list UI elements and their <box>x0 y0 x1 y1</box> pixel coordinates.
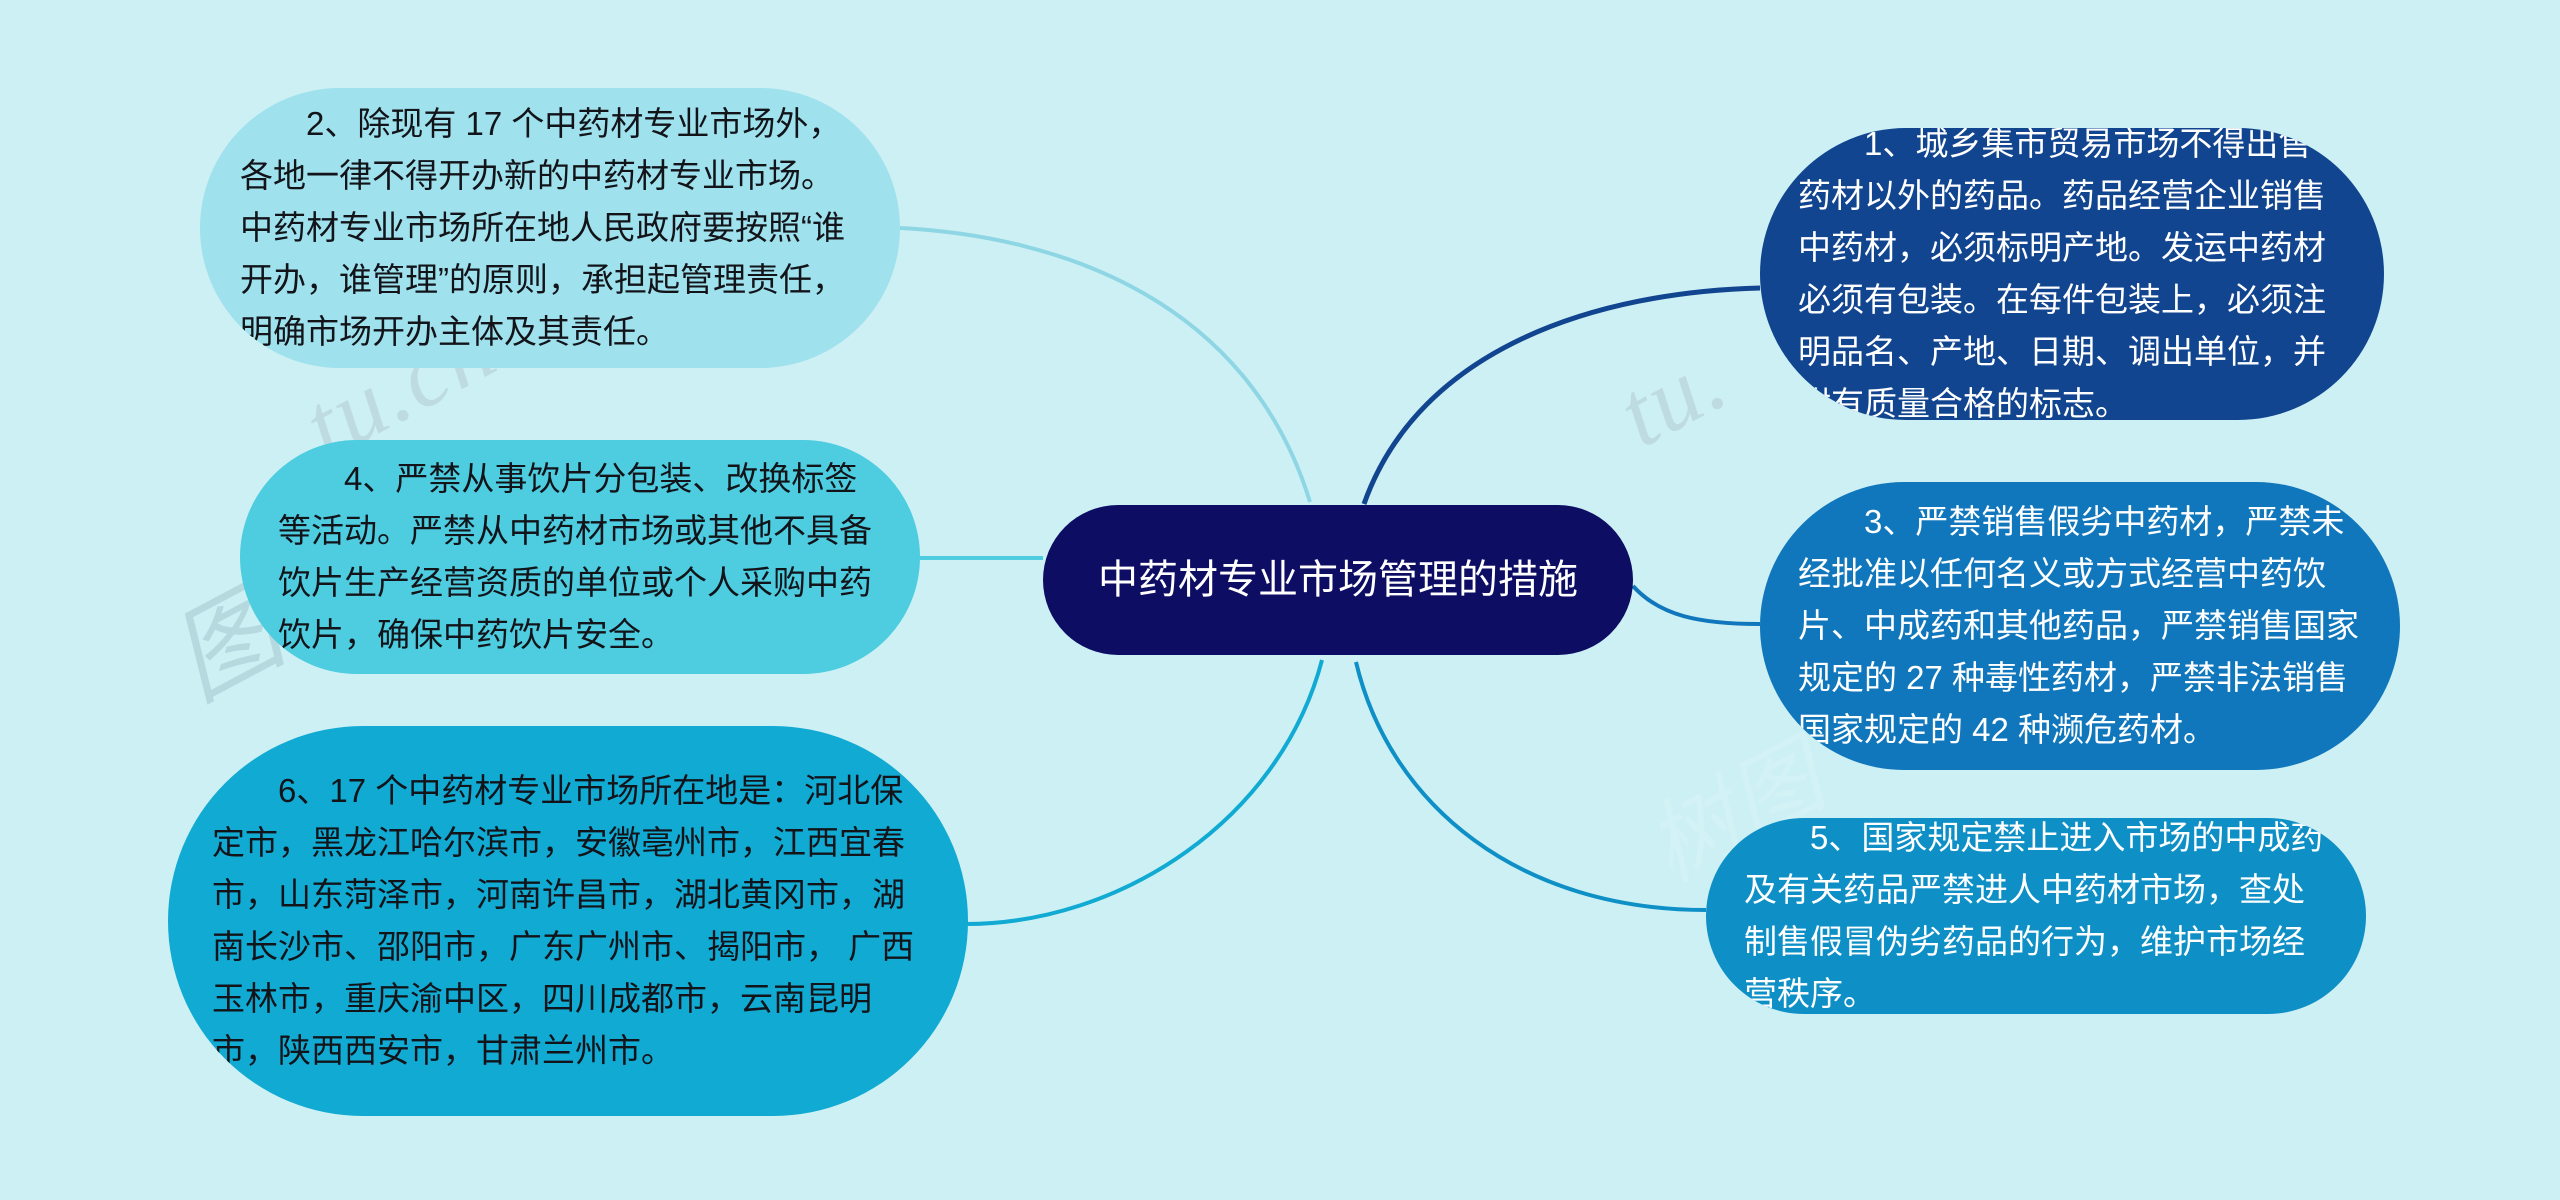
branch-node-6-text: 6、17 个中药材专业市场所在地是：河北保定市，黑龙江哈尔滨市，安徽亳州市，江西… <box>212 765 928 1078</box>
watermark-text: tu. <box>1600 322 1745 469</box>
central-topic-label: 中药材专业市场管理的措施 <box>1043 551 1633 609</box>
branch-node-1[interactable]: 1、城乡集市贸易市场不得出售中药材以外的药品。药品经营企业销售中药材，必须标明产… <box>1760 128 2384 420</box>
branch-node-3[interactable]: 3、严禁销售假劣中药材，严禁未经批准以任何名义或方式经营中药饮片、中成药和其他药… <box>1760 482 2400 770</box>
connector-node6 <box>966 660 1322 924</box>
branch-node-1-text: 1、城乡集市贸易市场不得出售中药材以外的药品。药品经营企业销售中药材，必须标明产… <box>1798 128 2350 420</box>
connector-node2 <box>900 228 1310 502</box>
branch-node-5-text: 5、国家规定禁止进入市场的中成药及有关药品严禁进人中药材市场，查处制售假冒伪劣药… <box>1744 818 2332 1014</box>
branch-node-5[interactable]: 5、国家规定禁止进入市场的中成药及有关药品严禁进人中药材市场，查处制售假冒伪劣药… <box>1706 818 2366 1014</box>
central-topic-node[interactable]: 中药材专业市场管理的措施 <box>1043 505 1633 655</box>
branch-node-3-text: 3、严禁销售假劣中药材，严禁未经批准以任何名义或方式经营中药饮片、中成药和其他药… <box>1798 496 2366 757</box>
branch-node-4[interactable]: 4、严禁从事饮片分包装、改换标签等活动。严禁从中药材市场或其他不具备饮片生产经营… <box>240 440 920 674</box>
branch-node-2[interactable]: 2、除现有 17 个中药材专业市场外，各地一律不得开办新的中药材专业市场。中药材… <box>200 88 900 368</box>
connector-node5 <box>1356 662 1706 910</box>
connector-node3 <box>1633 586 1760 624</box>
branch-node-4-text: 4、严禁从事饮片分包装、改换标签等活动。严禁从中药材市场或其他不具备饮片生产经营… <box>278 453 886 662</box>
branch-node-6[interactable]: 6、17 个中药材专业市场所在地是：河北保定市，黑龙江哈尔滨市，安徽亳州市，江西… <box>168 726 968 1116</box>
branch-node-2-text: 2、除现有 17 个中药材专业市场外，各地一律不得开办新的中药材专业市场。中药材… <box>240 98 864 359</box>
connector-node1 <box>1364 288 1760 504</box>
mindmap-canvas: tu.cn tu. 图 树图 树图 中药材专业市场管理的措施 2、除现有 17 … <box>0 0 2560 1200</box>
